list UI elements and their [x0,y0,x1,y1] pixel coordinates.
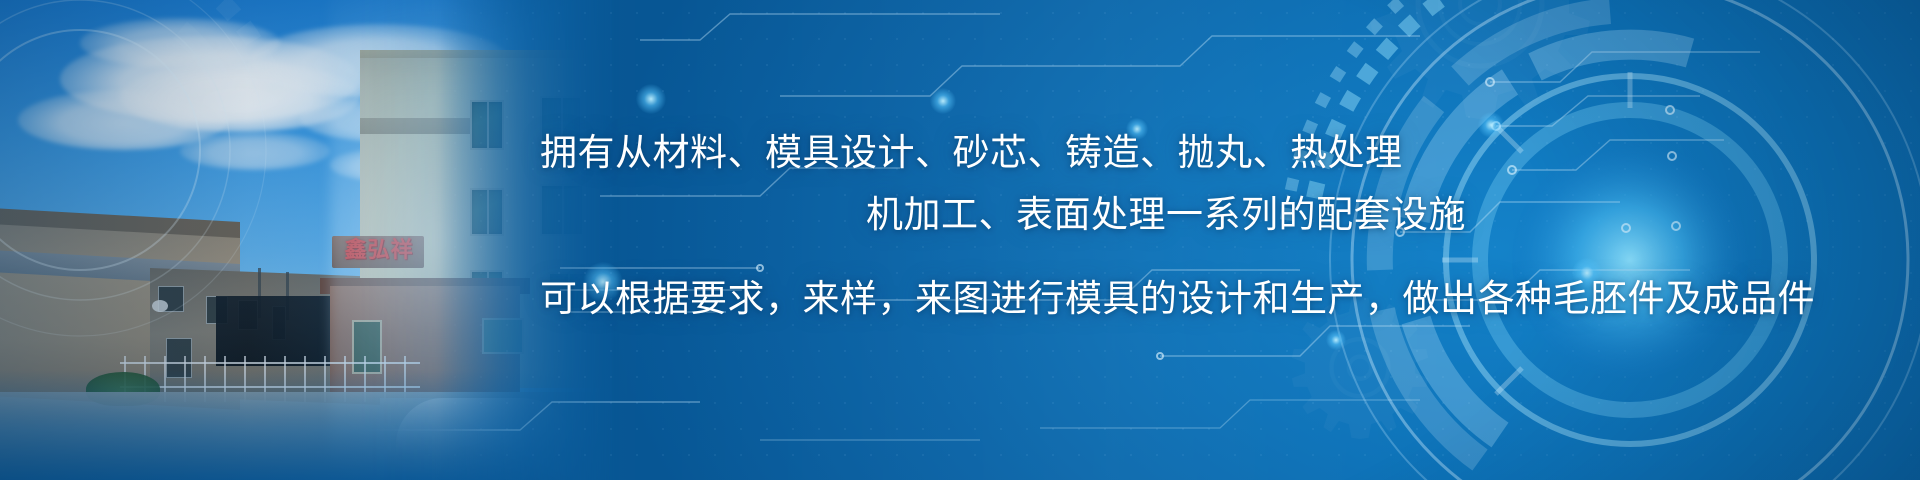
headline-line-2: 机加工、表面处理一系列的配套设施 [866,184,1466,238]
headline-line-1: 拥有从材料、模具设计、砂芯、铸造、抛丸、热处理 [540,122,1403,176]
banner-copy: 拥有从材料、模具设计、砂芯、铸造、抛丸、热处理 机加工、表面处理一系列的配套设施… [0,0,1920,480]
promo-banner: 鑫弘祥 [0,0,1920,480]
headline-line-3: 可以根据要求，来样，来图进行模具的设计和生产，做出各种毛胚件及成品件 [540,268,1815,322]
